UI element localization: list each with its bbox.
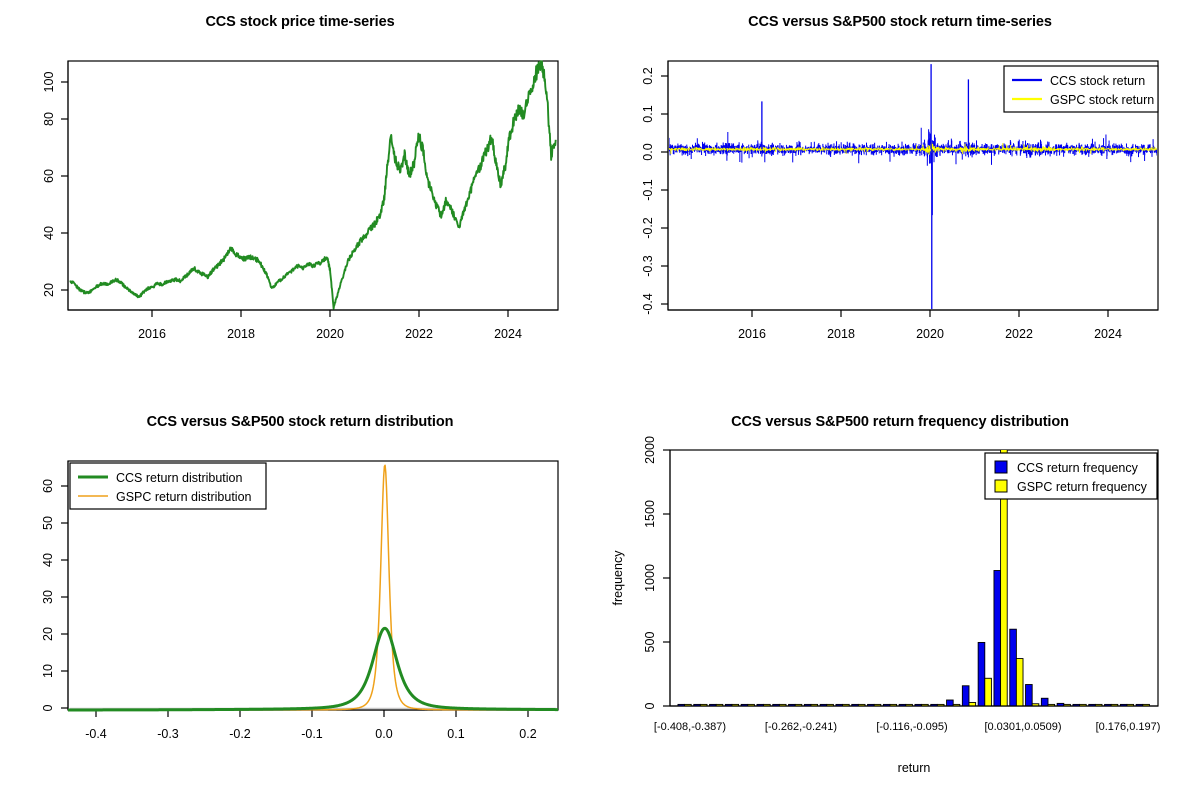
- price-ytick-2: 60: [42, 169, 56, 183]
- price-ytick-3: 80: [42, 112, 56, 126]
- price-ytick-4: 100: [42, 72, 56, 93]
- histogram-ytick-0: 0: [643, 702, 657, 709]
- histogram-legend-swatch-ccs: [995, 461, 1007, 473]
- price-plot-frame: [68, 61, 558, 310]
- returns-xtick-4: 2024: [1094, 327, 1122, 341]
- histogram-xtick-1: [-0.262,-0.241): [765, 721, 837, 733]
- panel-returns-timeseries: CCS versus S&P500 stock return time-seri…: [600, 0, 1200, 400]
- returns-ytick-0: -0.4: [641, 293, 655, 315]
- histogram-y-axis: 0 500 1000 1500 2000 frequency: [611, 436, 670, 709]
- returns-x-axis: 2016 2018 2020 2022 2024: [668, 310, 1158, 341]
- histogram-y-axis-title: frequency: [611, 550, 625, 606]
- density-xtick-3: -0.1: [301, 727, 323, 741]
- density-legend-label-ccs: CCS return distribution: [116, 471, 242, 485]
- histogram-plot-svg: 0 500 1000 1500 2000 frequency [-0.408,-…: [600, 400, 1200, 800]
- panel-return-density: CCS versus S&P500 stock return distribut…: [0, 400, 600, 800]
- price-x-axis: 2016 2018 2020 2022 2024: [68, 310, 558, 341]
- histogram-xtick-2: [-0.116,-0.095): [876, 721, 947, 733]
- returns-xtick-1: 2018: [827, 327, 855, 341]
- histogram-legend-label-gspc: GSPC return frequency: [1017, 480, 1148, 494]
- returns-xtick-3: 2022: [1005, 327, 1033, 341]
- plot-grid: CCS stock price time-series 20 40 60 80 …: [0, 0, 1200, 800]
- histogram-ytick-2: 1000: [643, 564, 657, 592]
- returns-ytick-5: 0.1: [641, 105, 655, 122]
- price-y-axis: 20 40 60 80 100: [42, 61, 68, 310]
- density-ytick-2: 20: [41, 627, 55, 641]
- price-ytick-1: 40: [42, 226, 56, 240]
- returns-ytick-1: -0.3: [641, 255, 655, 277]
- price-series-line: [70, 61, 555, 308]
- histogram-xtick-3: [0.0301,0.0509): [984, 721, 1061, 733]
- histogram-legend-swatch-gspc: [995, 480, 1007, 492]
- price-xtick-0: 2016: [138, 327, 166, 341]
- histogram-x-axis-title: return: [898, 761, 931, 775]
- returns-legend: CCS stock return GSPC stock return: [1004, 66, 1158, 112]
- histogram-bars: [670, 400, 1158, 706]
- density-xtick-6: 0.2: [519, 727, 536, 741]
- histogram-ytick-3: 1500: [643, 500, 657, 528]
- panel-return-histogram: CCS versus S&P500 return frequency distr…: [600, 400, 1200, 800]
- histogram-x-axis: [-0.408,-0.387) [-0.262,-0.241) [-0.116,…: [654, 721, 1161, 775]
- histogram-ytick-1: 500: [643, 632, 657, 653]
- returns-plot-svg: -0.4 -0.3 -0.2 -0.1 0.0 0.1 0.2 2016 201…: [600, 0, 1200, 400]
- density-xtick-5: 0.1: [447, 727, 464, 741]
- density-ytick-1: 10: [41, 664, 55, 678]
- density-ytick-5: 50: [41, 516, 55, 530]
- returns-y-axis: -0.4 -0.3 -0.2 -0.1 0.0 0.1 0.2: [641, 61, 668, 315]
- returns-xtick-2: 2020: [916, 327, 944, 341]
- price-xtick-1: 2018: [227, 327, 255, 341]
- histogram-legend-label-ccs: CCS return frequency: [1017, 461, 1139, 475]
- price-xtick-3: 2022: [405, 327, 433, 341]
- returns-legend-label-gspc: GSPC stock return: [1050, 93, 1154, 107]
- density-xtick-2: -0.2: [229, 727, 251, 741]
- density-legend-label-gspc: GSPC return distribution: [116, 490, 252, 504]
- returns-ytick-3: -0.1: [641, 179, 655, 201]
- density-xtick-0: -0.4: [85, 727, 107, 741]
- returns-legend-label-ccs: CCS stock return: [1050, 74, 1145, 88]
- price-ytick-0: 20: [42, 283, 56, 297]
- density-xtick-4: 0.0: [375, 727, 392, 741]
- price-xtick-2: 2020: [316, 327, 344, 341]
- density-ytick-4: 40: [41, 553, 55, 567]
- density-xtick-1: -0.3: [157, 727, 179, 741]
- price-plot-svg: 20 40 60 80 100 2016 2018 2020 2022 2024: [0, 0, 600, 400]
- histogram-ytick-4: 2000: [643, 436, 657, 464]
- histogram-legend: CCS return frequency GSPC return frequen…: [985, 453, 1157, 499]
- density-x-axis: -0.4 -0.3 -0.2 -0.1 0.0 0.1 0.2: [68, 710, 558, 741]
- returns-ytick-2: -0.2: [641, 217, 655, 239]
- density-plot-svg: 0 10 20 30 40 50 60 -0.4 -0.3 -0.2: [0, 400, 600, 800]
- density-ytick-3: 30: [41, 590, 55, 604]
- density-legend: CCS return distribution GSPC return dist…: [70, 463, 266, 509]
- returns-ytick-4: 0.0: [641, 143, 655, 160]
- returns-xtick-0: 2016: [738, 327, 766, 341]
- histogram-xtick-4: [0.176,0.197): [1096, 721, 1161, 733]
- histogram-xtick-0: [-0.408,-0.387): [654, 721, 726, 733]
- returns-ytick-6: 0.2: [641, 67, 655, 84]
- panel-price-timeseries: CCS stock price time-series 20 40 60 80 …: [0, 0, 600, 400]
- price-xtick-4: 2024: [494, 327, 522, 341]
- density-ytick-6: 60: [41, 479, 55, 493]
- density-ytick-0: 0: [41, 704, 55, 711]
- density-y-axis: 0 10 20 30 40 50 60: [41, 461, 68, 711]
